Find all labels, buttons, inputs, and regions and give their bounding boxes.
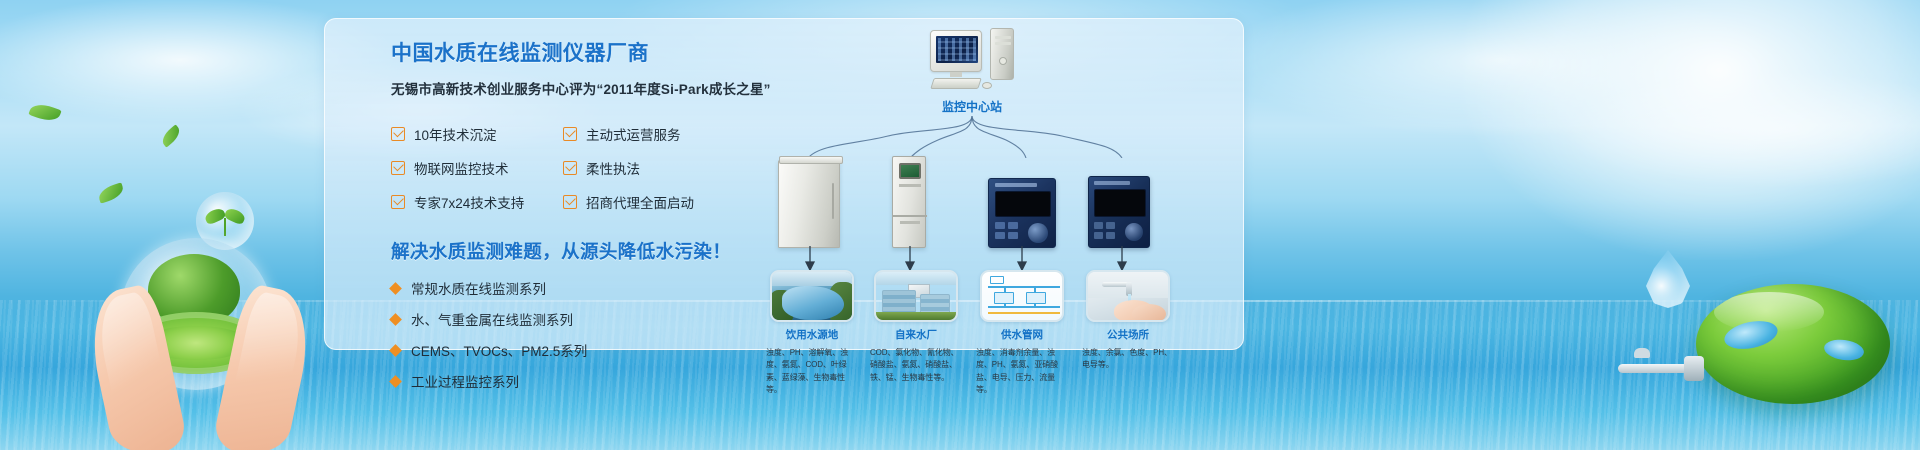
scenario-card[interactable]: 自来水厂 COD、氯化物、氰化物、硝酸盐、氨氮、硝酸盐、铁、锰、生物毒性等。 (874, 270, 958, 384)
scenario-card[interactable]: 饮用水源地 浊度、PH、溶解氧、浊度、氨氮、COD、叶绿素、蓝绿藻、生物毒性等。 (770, 270, 854, 397)
desktop-computer-icon (930, 28, 1014, 94)
scenario-parameters: 浊度、余氯、色度、PH、电导等。 (1082, 347, 1174, 372)
scenario-title: 供水管网 (980, 327, 1064, 342)
scenario-title: 饮用水源地 (770, 327, 854, 342)
device-keypad (1094, 222, 1118, 242)
faucet-knob (1634, 348, 1650, 358)
cabinet-analyzer-device (778, 160, 840, 248)
faucet-pipe (1618, 364, 1688, 373)
scenario-card[interactable]: 供水管网 浊度、消毒剂余量、浊度、PH、氨氮、亚硝酸盐、电导、压力、流量等。 (980, 270, 1064, 397)
drive-bay (995, 36, 1011, 39)
device-seam (893, 215, 927, 217)
device-display (995, 191, 1051, 217)
power-button-icon (999, 57, 1007, 65)
connector-lines (770, 114, 1170, 158)
hands-holding-tree-bubble (60, 190, 340, 450)
hands-icon (86, 276, 314, 450)
check-icon (563, 195, 577, 209)
flying-leaf-icon (28, 100, 61, 124)
flying-leaf-icon (159, 124, 184, 147)
feature-item: 主动式运营服务 (563, 124, 763, 144)
pipe-line (988, 306, 1060, 308)
check-icon (391, 161, 405, 175)
sprout-stem (224, 218, 226, 236)
photo-hand (1132, 304, 1166, 322)
scenario-thumbnails: 饮用水源地 浊度、PH、溶解氧、浊度、氨氮、COD、叶绿素、蓝绿藻、生物毒性等。… (770, 270, 1170, 350)
product-line-label: 水、气重金属在线监测系列 (411, 309, 573, 329)
panel-controller-device-1 (988, 178, 1056, 248)
faucet-head (1684, 356, 1704, 381)
scenario-title: 公共场所 (1086, 327, 1170, 342)
device-keypad (995, 222, 1021, 242)
diamond-bullet-icon (389, 375, 402, 388)
feature-label: 10年技术沉淀 (414, 124, 497, 144)
scenario-title: 自来水厂 (874, 327, 958, 342)
hand-left (81, 282, 188, 450)
feature-label: 柔性执法 (586, 158, 640, 178)
feature-item: 物联网监控技术 (391, 158, 563, 178)
device-brand-strip (995, 183, 1037, 187)
feature-label: 主动式运营服务 (586, 124, 681, 144)
product-line-label: 常规水质在线监测系列 (411, 278, 546, 298)
pipe-ground-line (988, 312, 1060, 314)
keypad-key (1106, 232, 1115, 239)
globe-lake (1823, 337, 1865, 362)
diamond-bullet-icon (389, 313, 402, 326)
monitor-icon (930, 30, 982, 72)
diamond-bullet-icon (389, 344, 402, 357)
device-display (1094, 189, 1146, 217)
keypad-key (1094, 232, 1103, 239)
pipe-tank (994, 292, 1014, 304)
feature-label: 招商代理全面启动 (586, 192, 694, 212)
faucet-handwash-photo (1086, 270, 1170, 322)
feature-item: 专家7x24技术支持 (391, 192, 563, 212)
check-icon (391, 127, 405, 141)
scenario-card[interactable]: 公共场所 浊度、余氯、色度、PH、电导等。 (1086, 270, 1170, 372)
photo-grass (876, 312, 958, 320)
device-display (899, 163, 921, 179)
water-droplet-icon (1646, 250, 1690, 308)
drive-bay (995, 42, 1011, 45)
keypad-key (995, 222, 1005, 229)
keypad-key (1008, 232, 1018, 239)
device-row (770, 156, 1170, 248)
device-dial (1125, 223, 1143, 241)
panel-controller-device-2 (1088, 176, 1150, 248)
column-analyzer-device (892, 156, 926, 248)
pc-tower-icon (990, 28, 1014, 80)
mouse-icon (982, 82, 992, 89)
river-source-photo (770, 270, 854, 322)
pipe-tank (990, 276, 1004, 284)
green-globe-scene (1616, 196, 1896, 426)
center-station-label: 监控中心站 (894, 98, 1050, 115)
device-brand-strip (1094, 181, 1130, 185)
device-label-strip (900, 221, 920, 224)
scenario-parameters: COD、氯化物、氰化物、硝酸盐、氨氮、硝酸盐、铁、锰、生物毒性等。 (870, 347, 962, 384)
water-treatment-plant-photo (874, 270, 958, 322)
keyboard-icon (930, 78, 982, 89)
pipe-line (988, 286, 1060, 288)
device-label-strip (899, 184, 921, 187)
feature-label: 物联网监控技术 (414, 158, 509, 178)
sprout-leaf-right (223, 206, 246, 225)
product-line-label: CEMS、TVOCs、PM2.5系列 (411, 340, 587, 360)
green-globe-icon (1696, 284, 1890, 404)
pipe-tank (1026, 292, 1046, 304)
monitor-screen (936, 36, 978, 63)
feature-item: 柔性执法 (563, 158, 763, 178)
keypad-key (995, 232, 1005, 239)
system-architecture-diagram: 监控中心站 (770, 28, 1170, 348)
feature-item: 招商代理全面启动 (563, 192, 763, 212)
monitor-stand (950, 72, 962, 77)
keypad-key (1008, 222, 1018, 229)
hand-right (211, 282, 318, 450)
feature-item: 10年技术沉淀 (391, 124, 563, 144)
down-arrows (770, 246, 1170, 272)
scenario-parameters: 浊度、消毒剂余量、浊度、PH、氨氮、亚硝酸盐、电导、压力、流量等。 (976, 347, 1068, 397)
photo-water (782, 286, 844, 320)
check-icon (563, 161, 577, 175)
check-icon (391, 195, 405, 209)
flying-leaf-icon (96, 182, 125, 203)
product-line-label: 工业过程监控系列 (411, 371, 519, 391)
pipe-network-diagram (980, 270, 1064, 322)
faucet-icon (1618, 356, 1704, 382)
keypad-key (1106, 222, 1115, 229)
keypad-key (1094, 222, 1103, 229)
device-dial (1028, 223, 1048, 243)
diamond-bullet-icon (389, 282, 402, 295)
feature-label: 专家7x24技术支持 (414, 192, 524, 212)
scenario-parameters: 浊度、PH、溶解氧、浊度、氨氮、COD、叶绿素、蓝绿藻、生物毒性等。 (766, 347, 858, 397)
check-icon (563, 127, 577, 141)
